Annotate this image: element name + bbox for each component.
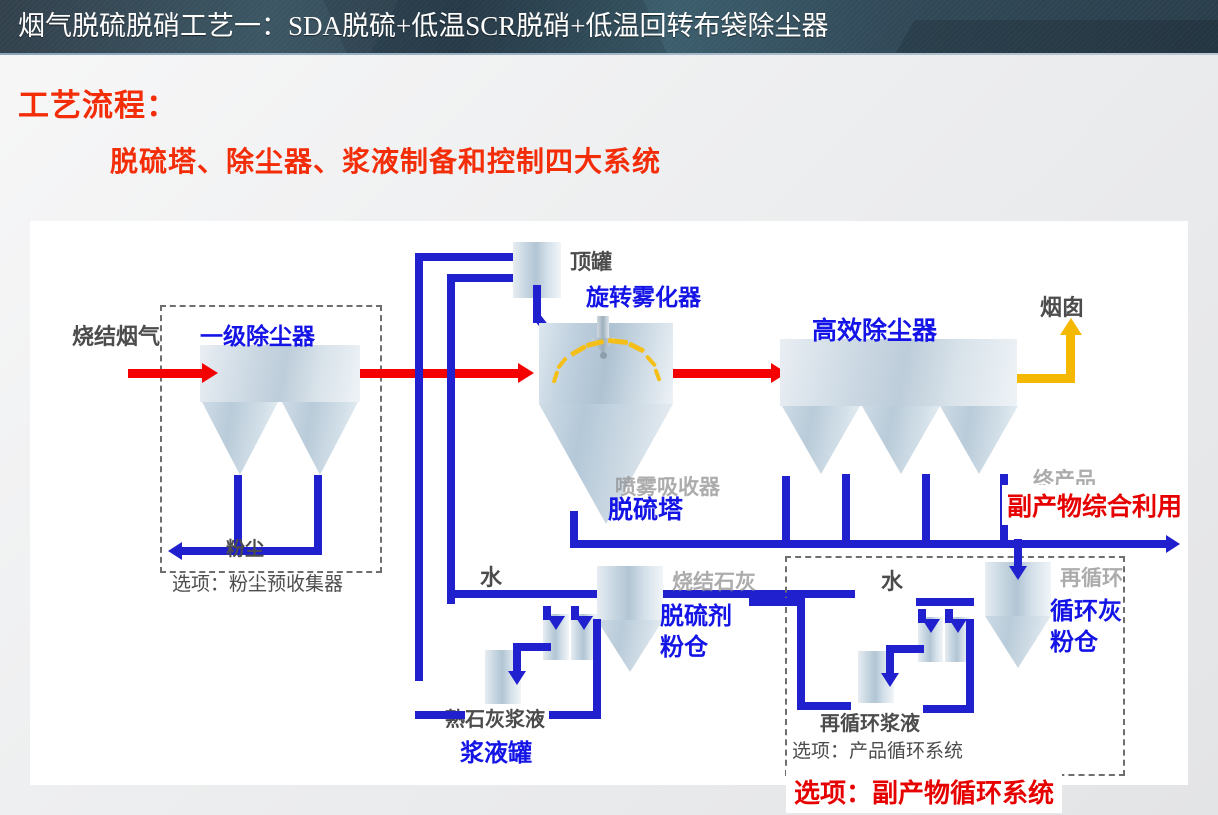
recycle-slurry-bottom [923, 705, 974, 713]
dust-outlet-arrowhead [168, 542, 182, 560]
label-primary-dust-collector: 一级除尘器 [200, 317, 315, 351]
rotary-atomizer-shaft [597, 316, 609, 340]
label-rotary-atomizer: 旋转雾化器 [586, 278, 701, 312]
process-flow-title: 工艺流程： [18, 80, 178, 125]
label-desulfurization-tower: 脱硫塔 [608, 490, 683, 526]
label-option-dust-precollector: 选项：粉尘预收集器 [172, 569, 343, 596]
header-facet-right [845, 20, 1218, 53]
label-dust: 粉尘 [226, 534, 264, 561]
hedc-hopper-1 [782, 406, 860, 474]
lime-silo-body [597, 566, 663, 620]
recycle-silo-outlet-pipe [916, 598, 974, 606]
flue-gas-pipe-to-hedc [673, 369, 773, 378]
label-recycle-ash-silo-line1: 循环灰 [1050, 591, 1122, 626]
flue-gas-pipe-to-tower [360, 369, 520, 378]
recycle-mixer-stub-1 [918, 609, 926, 623]
label-slurry-tank: 浆液罐 [460, 733, 532, 768]
byproduct-bus-riser-tower-side [782, 476, 790, 546]
clean-gas-vertical-pipe [1066, 334, 1075, 383]
slurry-outlet-bottom [549, 711, 601, 719]
label-water-right: 水 [881, 564, 903, 596]
primary-dust-collector-body [200, 345, 360, 402]
dust-leg-pipe-2 [314, 475, 322, 551]
recycle-mixer-stub-2 [945, 609, 953, 623]
slurry-transfer-arrowhead [508, 671, 526, 685]
riser-top-branch-outer [415, 253, 515, 261]
high-efficiency-dust-collector-body [780, 339, 1017, 406]
label-top-tank: 顶罐 [570, 246, 612, 276]
recycle-ash-feed-arrowhead [1009, 566, 1027, 580]
riser-top-branch-inner [447, 274, 515, 282]
riser-pipe-inner [447, 274, 455, 604]
byproduct-bus-arrowhead [1166, 535, 1180, 553]
label-recycle-ash-silo-line2: 粉仓 [1050, 622, 1098, 657]
recycle-slurry-riser [966, 619, 974, 713]
label-recirculated-slurry: 再循环浆液 [820, 707, 920, 736]
rotary-atomizer-tip [600, 352, 607, 359]
process-flow-subtitle: 脱硫塔、除尘器、浆液制备和控制四大系统 [110, 140, 661, 180]
label-chimney: 烟囱 [1040, 290, 1084, 322]
label-sintered-lime: 烧结石灰 [672, 566, 756, 596]
byproduct-bus-riser-left [570, 511, 578, 547]
slurry-outlet-riser [593, 619, 601, 719]
water-supply-pipe-right-v [797, 598, 805, 710]
label-high-efficiency-dust-collector: 高效除尘器 [812, 311, 937, 347]
hedc-ash-leg-2 [922, 474, 930, 548]
label-sintering-flue-gas: 烧结烟气 [72, 319, 160, 351]
slide-root: 烟气脱硫脱硝工艺一：SDA脱硫+低温SCR脱硝+低温回转布袋除尘器 工艺流程： … [0, 0, 1218, 815]
flue-gas-inlet-arrowhead [202, 363, 218, 383]
hedc-hopper-3 [940, 406, 1018, 474]
mixer-feed-stub-2 [571, 606, 579, 620]
byproduct-bus-pipe [570, 540, 1170, 548]
flue-gas-inlet-pipe [128, 369, 204, 378]
label-desulfurizer-silo-line2: 粉仓 [660, 627, 708, 662]
lime-silo-cone [597, 620, 663, 672]
label-water-left: 水 [480, 560, 502, 592]
label-option-product-recycle-system: 选项：产品循环系统 [792, 736, 963, 763]
slurry-return-bottom-left [415, 711, 465, 719]
recycle-slurry-transfer-arrowhead [881, 673, 899, 687]
hedc-ash-leg-1 [842, 474, 850, 548]
mixer-feed-stub-1 [543, 606, 551, 620]
process-flow-diagram: 一级除尘器 烧结烟气 粉尘 选项：粉尘预收集器 顶罐 旋转雾化器 [30, 221, 1188, 785]
label-option-byproduct-recycle-system: 选项：副产物循环系统 [786, 770, 1062, 813]
header-underline [0, 53, 1218, 55]
label-recirculation-faint: 再循环 [1060, 562, 1123, 592]
label-desulfurizer-silo-line1: 脱硫剂 [660, 596, 732, 631]
header-title: 烟气脱硫脱硝工艺一：SDA脱硫+低温SCR脱硝+低温回转布袋除尘器 [18, 4, 829, 43]
flue-gas-to-tower-arrowhead [518, 363, 534, 383]
riser-pipe-outer [415, 253, 423, 681]
label-byproduct-comprehensive-use: 副产物综合利用 [1002, 485, 1187, 525]
hedc-hopper-2 [862, 406, 940, 474]
